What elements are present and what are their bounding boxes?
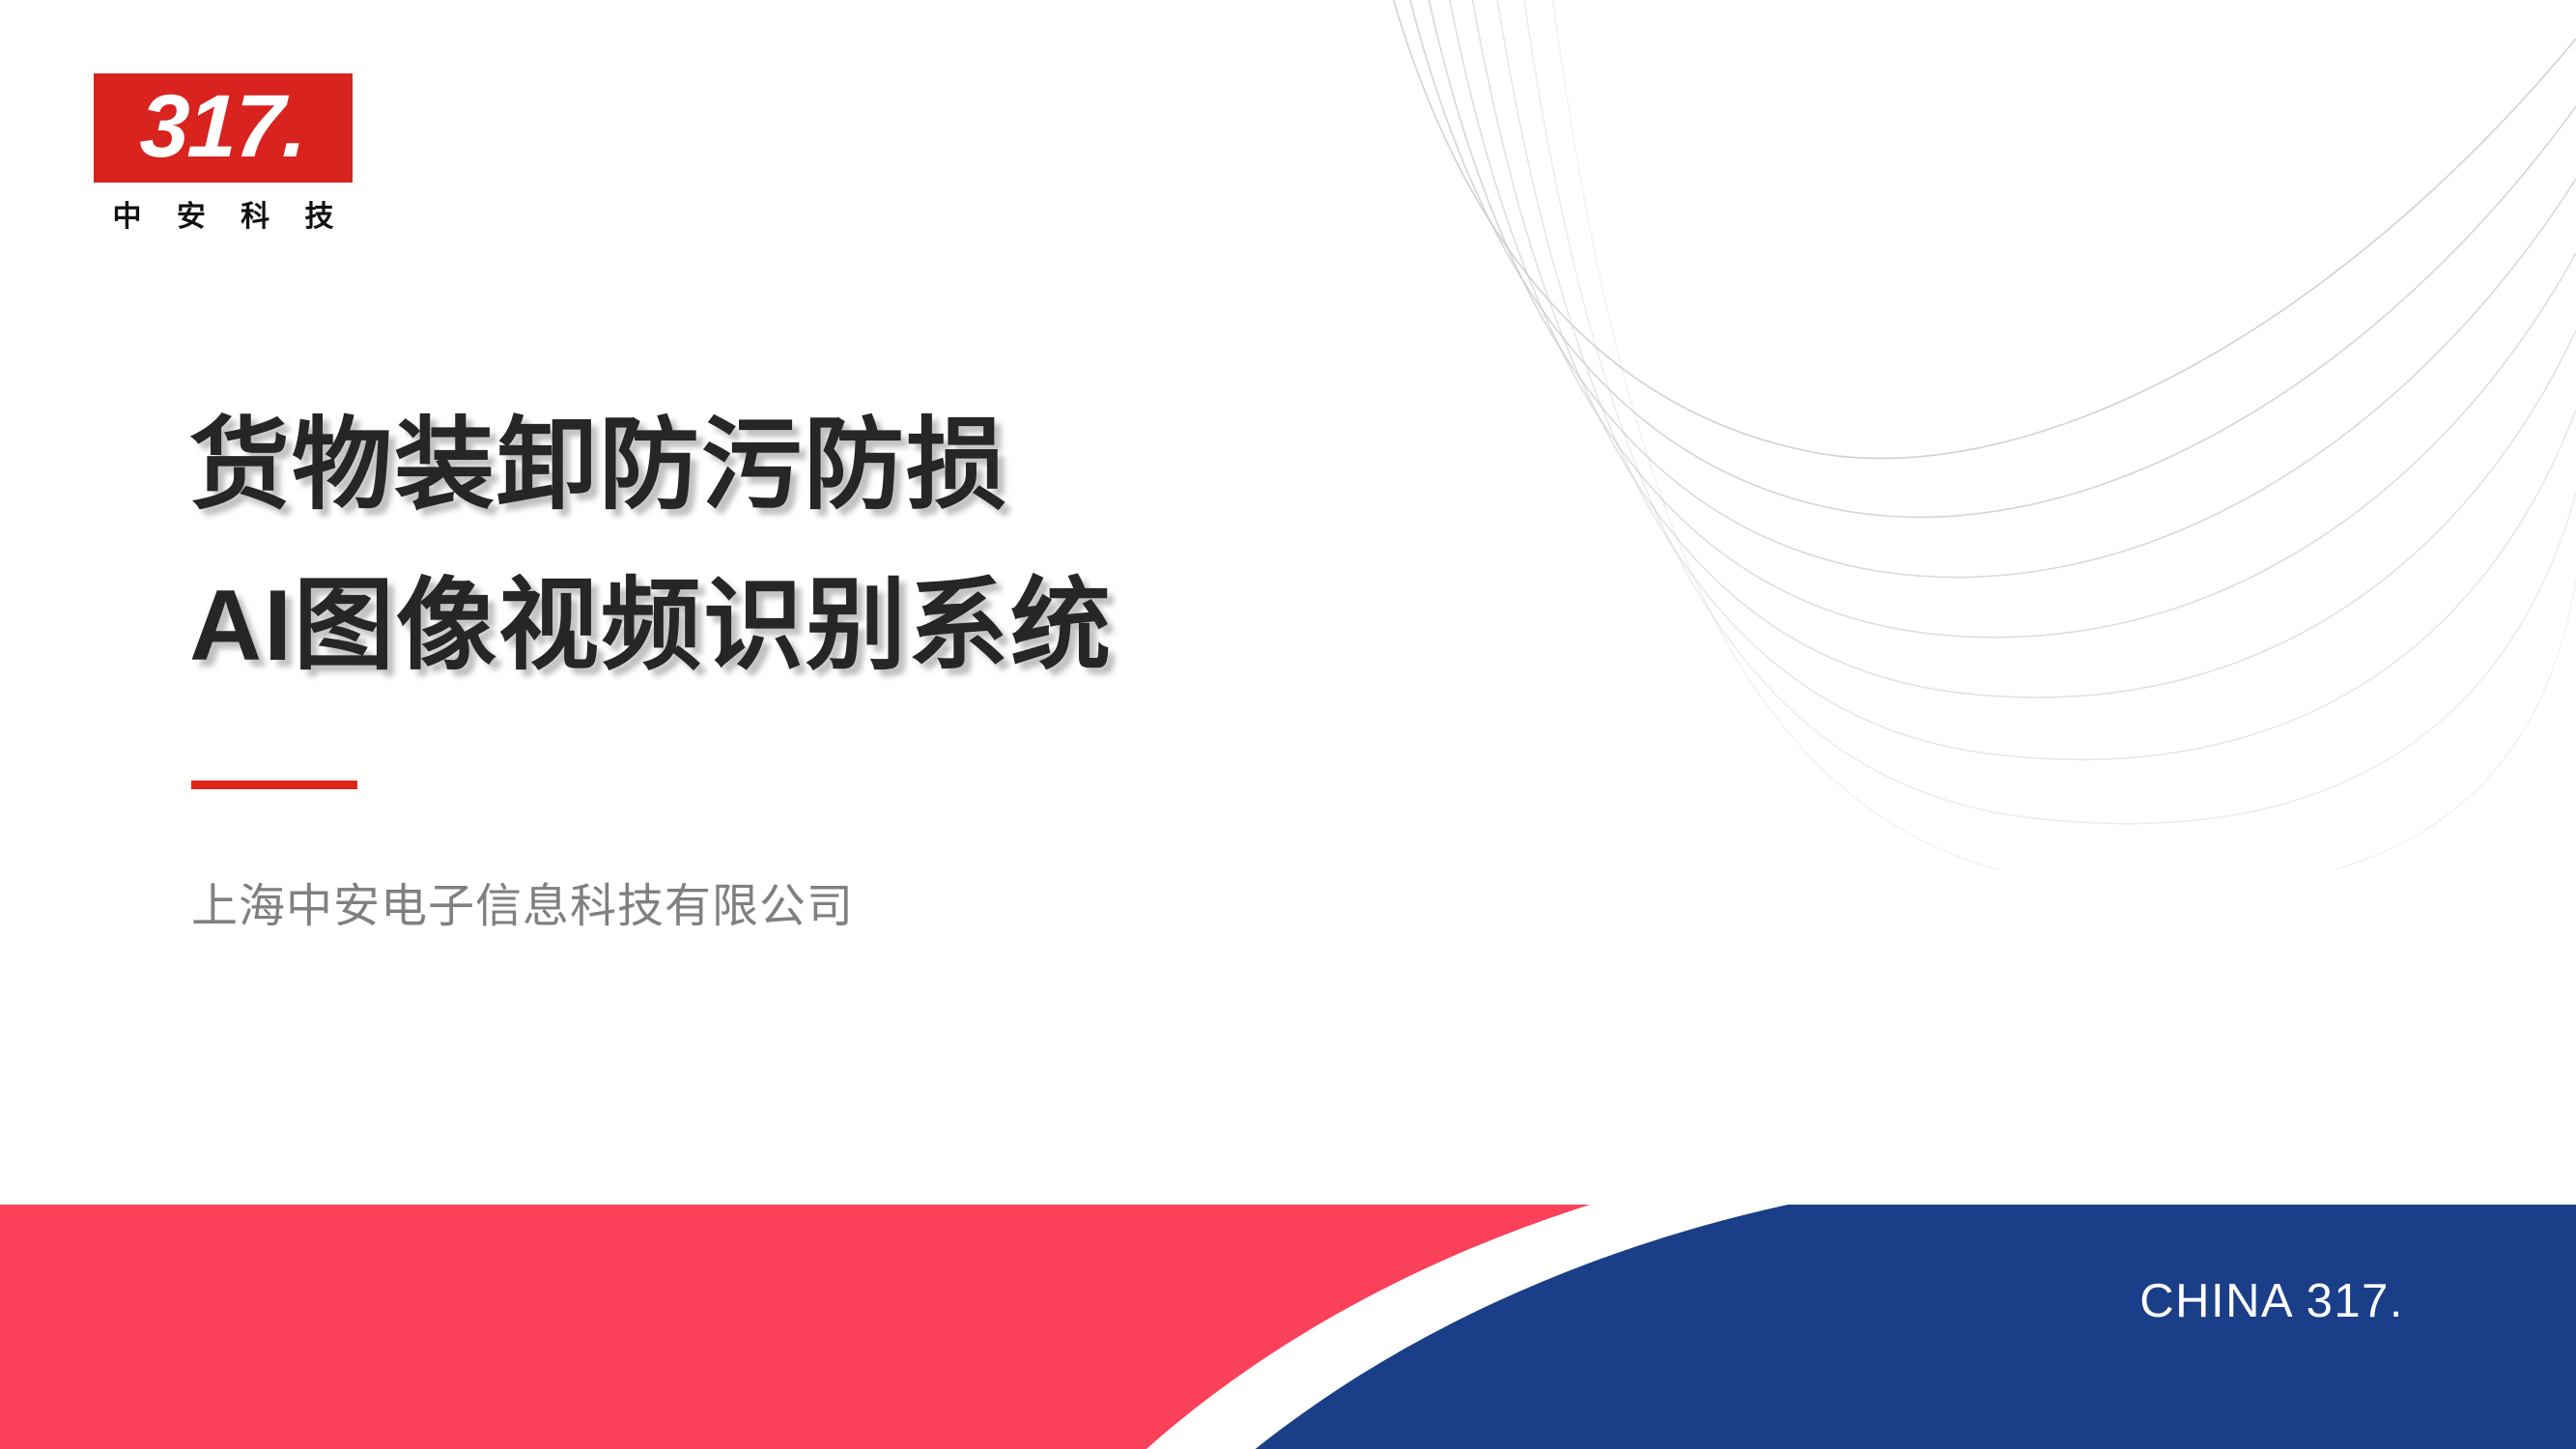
- title-line-2: AI图像视频识别系统: [189, 566, 1348, 686]
- footer-brand-text: CHINA 317.: [2139, 1274, 2404, 1328]
- swoosh-line-6: [1494, 0, 2576, 759]
- swoosh-line-7: [1521, 0, 2576, 824]
- footer-band: CHINA 317.: [0, 1205, 2576, 1449]
- swoosh-line-3: [1425, 0, 2576, 578]
- logo-company-short-name: 中 安 科 技: [94, 192, 353, 235]
- swoosh-line-2: [1405, 0, 2576, 517]
- company-name-subtitle: 上海中安电子信息科技有限公司: [191, 879, 854, 935]
- logo-mark-317: 317.: [94, 73, 353, 183]
- curved-swoosh-lines-decoration: [1369, 0, 2576, 869]
- title-slide: 317. 中 安 科 技 货物装卸防污防损 AI图像视频识别系统 上海中安电子信…: [0, 0, 2576, 1449]
- company-logo: 317. 中 安 科 技: [94, 73, 353, 235]
- swoosh-line-4: [1446, 0, 2576, 638]
- title-divider-rule: [191, 781, 357, 789]
- page-title: 货物装卸防污防损 AI图像视频识别系统: [189, 406, 1348, 686]
- swoosh-line-8: [1550, 0, 2576, 869]
- swoosh-line-5: [1469, 0, 2576, 697]
- title-line-1: 货物装卸防污防损: [189, 406, 1348, 526]
- logo-mark-text: 317.: [139, 82, 307, 171]
- swoosh-line-1: [1388, 0, 2576, 458]
